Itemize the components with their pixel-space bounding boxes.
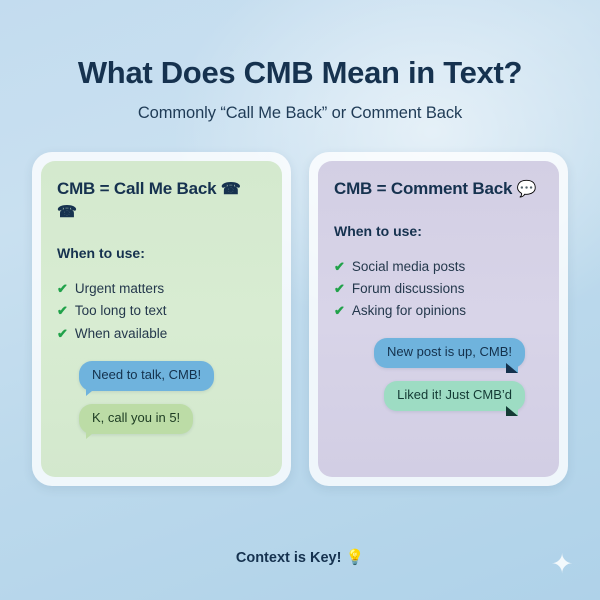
card-inner-green: CMB = Call Me Back ☎ ☎ When to use: ✔ Ur… <box>41 161 282 477</box>
list-item-label: Urgent matters <box>75 278 164 300</box>
list-item: ✔ Too long to text <box>57 300 266 322</box>
card-heading-text: CMB = Call Me Back <box>57 179 216 198</box>
list-item-label: Forum discussions <box>352 278 465 300</box>
check-icon: ✔ <box>57 323 68 344</box>
phone-icon: ☎ <box>221 181 241 198</box>
card-heading: CMB = Call Me Back ☎ ☎ <box>57 178 266 223</box>
bubble-row: Need to talk, CMB! <box>57 361 266 391</box>
cards-container: CMB = Call Me Back ☎ ☎ When to use: ✔ Ur… <box>0 152 600 486</box>
speech-bubble: Liked it! Just CMB’d <box>384 381 525 411</box>
check-icon: ✔ <box>334 256 345 277</box>
list-item: ✔ Social media posts <box>334 256 543 278</box>
footer-text: Context is Key! <box>236 550 342 566</box>
header: What Does CMB Mean in Text? Commonly “Ca… <box>0 0 600 123</box>
list-item: ✔ Forum discussions <box>334 278 543 300</box>
when-to-use-label: When to use: <box>57 245 266 261</box>
card-heading-text: CMB = Comment Back <box>334 179 512 198</box>
card-comment-back: CMB = Comment Back 💬 When to use: ✔ Soci… <box>309 152 568 486</box>
comment-icon: 💬 <box>517 181 537 198</box>
speech-bubble: K, call you in 5! <box>79 404 193 434</box>
check-icon: ✔ <box>57 300 68 321</box>
phone-icon-wrapped: ☎ <box>57 204 77 221</box>
bullet-list: ✔ Social media posts ✔ Forum discussions… <box>334 256 543 323</box>
card-heading: CMB = Comment Back 💬 <box>334 178 543 200</box>
bubble-group: New post is up, CMB! Liked it! Just CMB’… <box>334 338 543 424</box>
bullet-list: ✔ Urgent matters ✔ Too long to text ✔ Wh… <box>57 278 266 345</box>
list-item: ✔ Urgent matters <box>57 278 266 300</box>
list-item: ✔ When available <box>57 323 266 345</box>
list-item-label: Asking for opinions <box>352 300 466 322</box>
bubble-group: Need to talk, CMB! K, call you in 5! <box>57 361 266 447</box>
list-item-label: When available <box>75 323 167 345</box>
bubble-row: Liked it! Just CMB’d <box>334 381 543 411</box>
check-icon: ✔ <box>334 300 345 321</box>
bubble-row: K, call you in 5! <box>57 404 266 434</box>
sparkle-icon: ✦ <box>549 551 575 577</box>
speech-bubble: New post is up, CMB! <box>374 338 525 368</box>
page-subtitle: Commonly “Call Me Back” or Comment Back <box>0 104 600 123</box>
card-inner-purple: CMB = Comment Back 💬 When to use: ✔ Soci… <box>318 161 559 477</box>
bubble-row: New post is up, CMB! <box>334 338 543 368</box>
page-title: What Does CMB Mean in Text? <box>0 56 600 90</box>
check-icon: ✔ <box>334 278 345 299</box>
when-to-use-label: When to use: <box>334 223 543 239</box>
list-item-label: Too long to text <box>75 300 167 322</box>
footer: Context is Key! 💡 <box>0 548 600 566</box>
speech-bubble: Need to talk, CMB! <box>79 361 214 391</box>
lightbulb-icon: 💡 <box>345 549 364 566</box>
list-item-label: Social media posts <box>352 256 465 278</box>
check-icon: ✔ <box>57 278 68 299</box>
card-call-me-back: CMB = Call Me Back ☎ ☎ When to use: ✔ Ur… <box>32 152 291 486</box>
list-item: ✔ Asking for opinions <box>334 300 543 322</box>
